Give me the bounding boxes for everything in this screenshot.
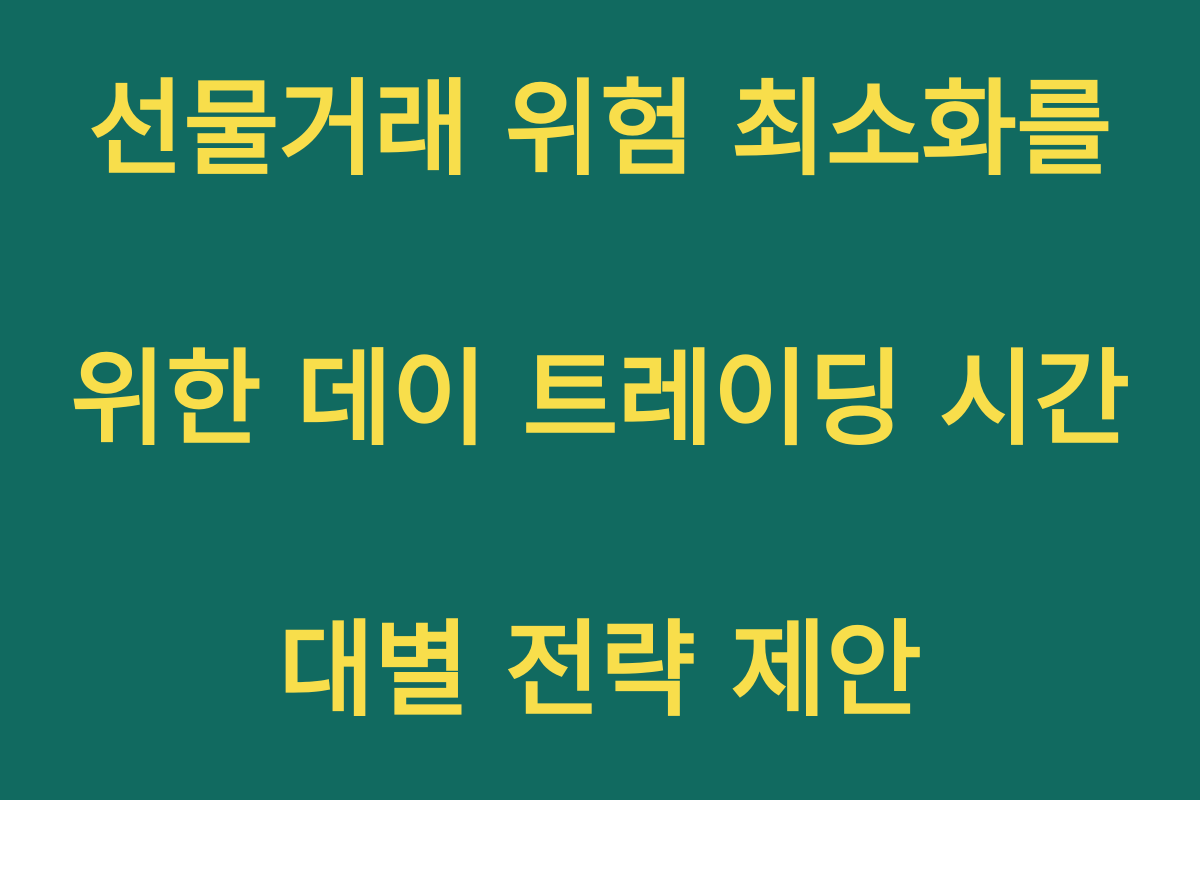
headline-line-1: 선물거래 위험 최소화를 — [60, 62, 1140, 197]
headline-line-2: 위한 데이 트레이딩 시간 — [60, 332, 1140, 467]
thumbnail-banner: 선물거래 위험 최소화를 위한 데이 트레이딩 시간 대별 전략 제안 — [0, 0, 1200, 800]
page-title: 선물거래 위험 최소화를 위한 데이 트레이딩 시간 대별 전략 제안 — [0, 0, 1200, 873]
headline-line-3: 대별 전략 제안 — [60, 603, 1140, 738]
